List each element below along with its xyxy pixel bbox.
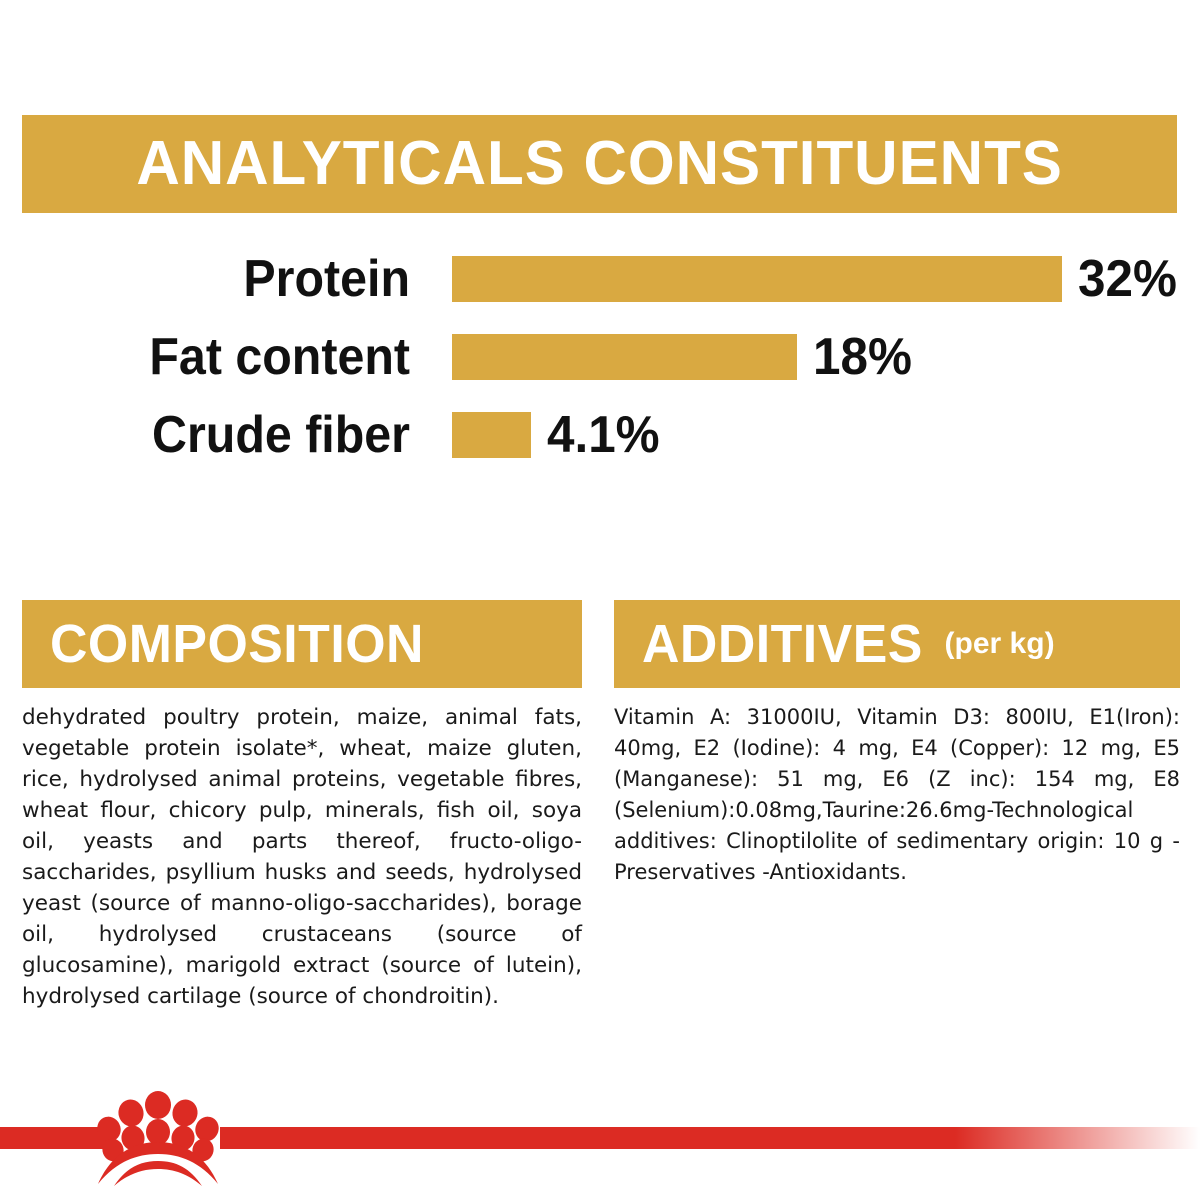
chart-bar-group-protein: 32% — [452, 253, 1182, 305]
composition-banner: COMPOSITION — [22, 600, 582, 688]
chart-value-protein: 32% — [1078, 253, 1177, 305]
additives-section: ADDITIVES (per kg) Vitamin A: 31000IU, V… — [614, 600, 1180, 1012]
analytical-constituents-banner: ANALYTICALS CONSTITUENTS — [22, 115, 1177, 213]
chart-label-protein: Protein — [29, 253, 410, 305]
page-title: ANALYTICALS CONSTITUENTS — [136, 133, 1063, 195]
additives-text: Vitamin A: 31000IU, Vitamin D3: 800IU, E… — [614, 702, 1180, 888]
chart-bar-crude-fiber — [452, 412, 531, 458]
details-columns: COMPOSITION dehydrated poultry protein, … — [0, 600, 1200, 1012]
royal-canin-crown-icon — [88, 1088, 228, 1188]
chart-label-fat-content: Fat content — [29, 331, 410, 383]
additives-unit-label: (per kg) — [945, 629, 1055, 659]
chart-row-fat-content: Fat content 18% — [0, 318, 1200, 396]
composition-heading: COMPOSITION — [50, 617, 424, 671]
analytical-constituents-chart: Protein 32% Fat content 18% Crude fiber … — [0, 240, 1200, 474]
footer — [0, 1080, 1200, 1200]
chart-bar-fat-content — [452, 334, 797, 380]
additives-heading: ADDITIVES — [642, 617, 923, 671]
chart-row-crude-fiber: Crude fiber 4.1% — [0, 396, 1200, 474]
chart-value-fat-content: 18% — [813, 331, 912, 383]
chart-label-crude-fiber: Crude fiber — [29, 409, 410, 461]
chart-bar-protein — [452, 256, 1062, 302]
additives-banner: ADDITIVES (per kg) — [614, 600, 1180, 688]
chart-row-protein: Protein 32% — [0, 240, 1200, 318]
chart-bar-group-crude-fiber: 4.1% — [452, 409, 666, 461]
chart-bar-group-fat-content: 18% — [452, 331, 917, 383]
composition-text: dehydrated poultry protein, maize, anima… — [22, 702, 582, 1012]
chart-value-crude-fiber: 4.1% — [547, 409, 660, 461]
composition-section: COMPOSITION dehydrated poultry protein, … — [22, 600, 582, 1012]
footer-rule-right — [220, 1127, 1200, 1149]
